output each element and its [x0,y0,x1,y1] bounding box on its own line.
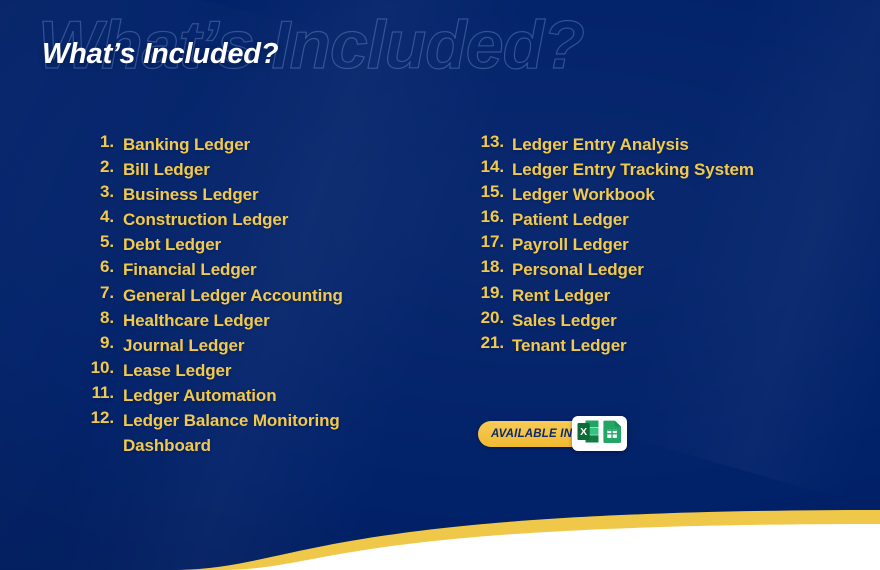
list-item-number: 16. [470,207,504,227]
list-item: 21. Tenant Ledger [470,333,870,358]
list-item-label: Ledger Workbook [512,182,655,207]
list-item-number: 20. [470,308,504,328]
page-title: What’s Included? [42,38,278,71]
list-item-number: 12. [82,408,114,428]
slide-canvas: What’s Included? What’s Included? 1. Ban… [0,0,880,570]
list-item-number: 18. [470,257,504,277]
list-item-number: 17. [470,232,504,252]
list-item: 2. Bill Ledger [82,157,462,182]
list-item: 18. Personal Ledger [470,257,870,282]
list-item-label: Sales Ledger [512,308,617,333]
list-item-label: Lease Ledger [123,358,231,383]
list-item: 3. Business Ledger [82,182,462,207]
available-in-label: AVAILABLE IN [491,428,572,440]
list-item-number: 6. [82,257,114,277]
list-item-label: Journal Ledger [123,333,244,358]
list-item: 20. Sales Ledger [470,308,870,333]
list-item-label: Patient Ledger [512,207,629,232]
svg-text:X: X [580,426,587,438]
google-sheets-icon [603,420,622,448]
list-item-label: Banking Ledger [123,132,250,157]
list-item: 9. Journal Ledger [82,333,462,358]
list-item-number: 13. [470,132,504,152]
list-item: 19. Rent Ledger [470,283,870,308]
list-item-label: Rent Ledger [512,283,610,308]
list-item: 4. Construction Ledger [82,207,462,232]
list-item-number: 4. [82,207,114,227]
included-list-left-column: 1. Banking Ledger 2. Bill Ledger 3. Busi… [82,132,462,458]
list-item-label: Ledger Balance Monitoring Dashboard [123,408,340,458]
list-item-number: 10. [82,358,114,378]
list-item-label: Ledger Entry Analysis [512,132,689,157]
list-item-label: Bill Ledger [123,157,210,182]
list-item-label: Payroll Ledger [512,232,629,257]
list-item-label: Financial Ledger [123,257,257,282]
list-item-label: Debt Ledger [123,232,221,257]
list-item: 6. Financial Ledger [82,257,462,282]
list-item: 13. Ledger Entry Analysis [470,132,870,157]
app-icon-group: X [572,416,627,451]
list-item-label: Business Ledger [123,182,259,207]
list-item-label: Ledger Automation [123,383,277,408]
list-item: 15. Ledger Workbook [470,182,870,207]
list-item: 1. Banking Ledger [82,132,462,157]
list-item-number: 21. [470,333,504,353]
list-item: 10. Lease Ledger [82,358,462,383]
list-item-number: 7. [82,283,114,303]
list-item: 8. Healthcare Ledger [82,308,462,333]
list-item-label: General Ledger Accounting [123,283,343,308]
list-item: 5. Debt Ledger [82,232,462,257]
list-item-label: Tenant Ledger [512,333,627,358]
list-item-number: 2. [82,157,114,177]
list-item: 17. Payroll Ledger [470,232,870,257]
list-item: 14. Ledger Entry Tracking System [470,157,870,182]
list-item-number: 19. [470,283,504,303]
list-item-number: 14. [470,157,504,177]
list-item-number: 11. [82,383,114,403]
included-list-right-column: 13. Ledger Entry Analysis 14. Ledger Ent… [470,132,870,358]
list-item: 16. Patient Ledger [470,207,870,232]
list-item: 12. Ledger Balance Monitoring Dashboard [82,408,462,458]
list-item-label: Ledger Entry Tracking System [512,157,754,182]
list-item-label: Healthcare Ledger [123,308,270,333]
available-in-badge: AVAILABLE IN X [478,419,627,448]
list-item-label: Construction Ledger [123,207,288,232]
microsoft-excel-icon: X [577,420,599,448]
list-item-number: 9. [82,333,114,353]
list-item: 7. General Ledger Accounting [82,283,462,308]
list-item: 11. Ledger Automation [82,383,462,408]
list-item-number: 5. [82,232,114,252]
list-item-number: 15. [470,182,504,202]
list-item-number: 8. [82,308,114,328]
list-item-number: 1. [82,132,114,152]
list-item-number: 3. [82,182,114,202]
bottom-curve-decoration [0,490,880,570]
list-item-label: Personal Ledger [512,257,644,282]
